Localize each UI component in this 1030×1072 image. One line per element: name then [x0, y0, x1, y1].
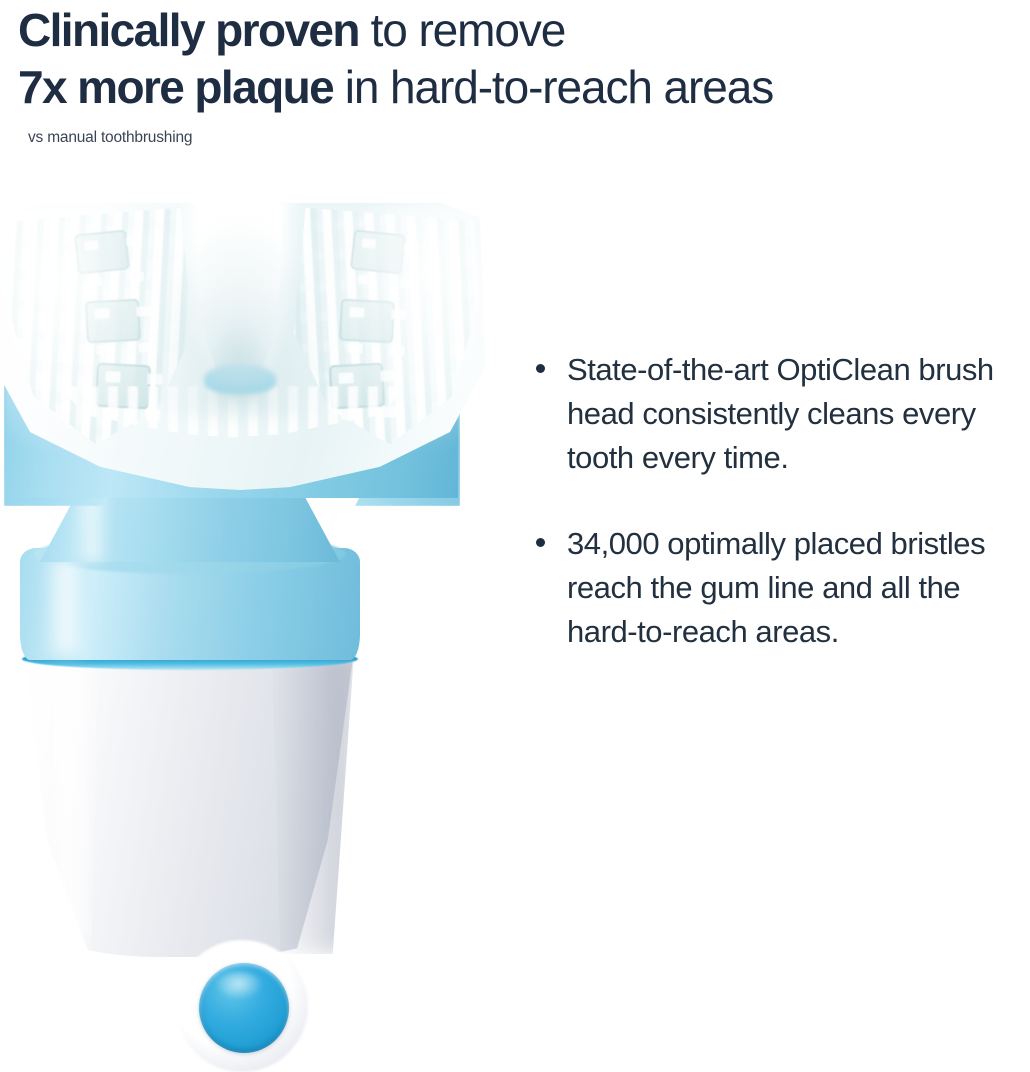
headline-line-2: 7x more plaque in hard-to-reach areas	[18, 59, 1030, 116]
handle-shadow	[272, 654, 354, 954]
feature-list: State-of-the-art OptiClean brush head co…	[536, 348, 1016, 696]
headline-line-2-emphasis: 7x more plaque	[18, 61, 333, 113]
headline-disclaimer: vs manual toothbrushing	[28, 128, 192, 147]
headline-line-2-rest: in hard-to-reach areas	[333, 61, 773, 113]
headline-block: Clinically proven to remove 7x more plaq…	[18, 2, 1030, 116]
power-button-gloss	[214, 972, 264, 1000]
headline-line-1: Clinically proven to remove	[18, 2, 1030, 59]
list-item: 34,000 optimally placed bristles reach t…	[536, 522, 1016, 654]
product-image	[0, 196, 480, 957]
list-item-label: State-of-the-art OptiClean brush head co…	[567, 348, 1016, 480]
headline-line-1-emphasis: Clinically proven	[18, 4, 359, 56]
collar-highlight	[44, 558, 88, 654]
headline-line-1-rest: to remove	[359, 4, 565, 56]
bullet-dot-icon	[536, 364, 545, 373]
list-item-label: 34,000 optimally placed bristles reach t…	[567, 522, 1016, 654]
brush-head-inner-shading	[150, 206, 330, 416]
bullet-dot-icon	[536, 538, 545, 547]
handle-highlight	[44, 661, 98, 951]
list-item: State-of-the-art OptiClean brush head co…	[536, 348, 1016, 480]
